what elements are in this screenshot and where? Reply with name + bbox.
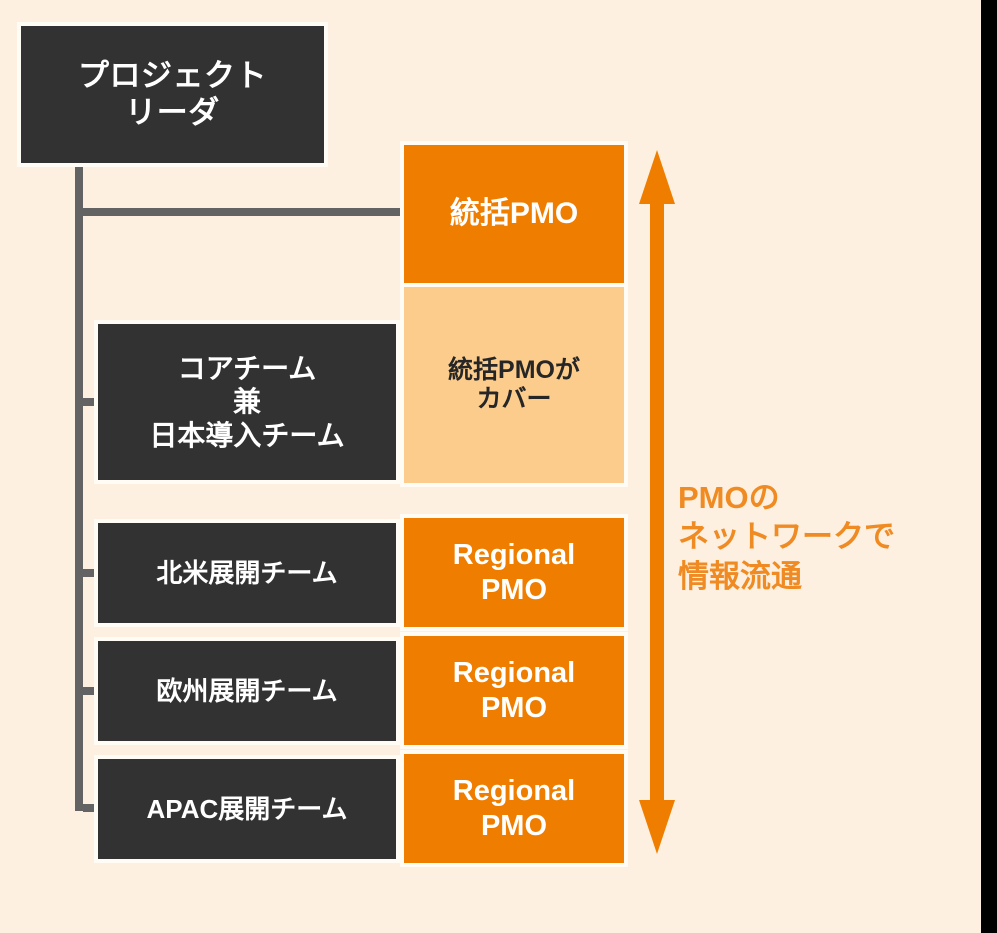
node-regional-pmo-apac-label: Regional PMO [453,774,575,842]
node-regional-pmo-north-america[interactable]: Regional PMO [400,514,628,631]
node-regional-pmo-apac[interactable]: Regional PMO [400,750,628,867]
node-project-leader-label: プロジェクト リーダ [78,58,267,131]
node-regional-pmo-europe[interactable]: Regional PMO [400,632,628,749]
node-integrated-pmo-coverage[interactable]: 統括PMOが カバー [400,283,628,487]
node-core-team[interactable]: コアチーム 兼 日本導入チーム [94,320,400,484]
node-regional-pmo-north-america-label: Regional PMO [453,538,575,606]
node-core-team-label: コアチーム 兼 日本導入チーム [149,352,344,451]
node-europe-team[interactable]: 欧州展開チーム [94,637,400,745]
node-project-leader[interactable]: プロジェクト リーダ [17,22,328,167]
connector-branch-to-integrated-pmo [75,208,405,216]
node-integrated-pmo-label: 統括PMO [450,196,578,231]
annotation-pmo-network-flow: PMOの ネットワークで 情報流通 [678,438,978,597]
node-north-america-team[interactable]: 北米展開チーム [94,519,400,627]
connector-trunk-vertical [75,163,83,811]
node-integrated-pmo[interactable]: 統括PMO [400,141,628,287]
node-apac-team-label: APAC展開チーム [147,794,348,825]
node-europe-team-label: 欧州展開チーム [156,676,337,707]
diagram-canvas: プロジェクト リーダ コアチーム 兼 日本導入チーム 北米展開チーム 欧州展開チ… [0,0,997,933]
double-headed-arrow-icon [637,150,677,854]
annotation-pmo-network-flow-label: PMOの ネットワークで 情報流通 [678,480,895,594]
node-integrated-pmo-coverage-label: 統括PMOが カバー [448,356,580,415]
node-apac-team[interactable]: APAC展開チーム [94,755,400,863]
node-north-america-team-label: 北米展開チーム [156,558,337,589]
canvas-right-edge-strip [981,0,997,933]
node-regional-pmo-europe-label: Regional PMO [453,656,575,724]
